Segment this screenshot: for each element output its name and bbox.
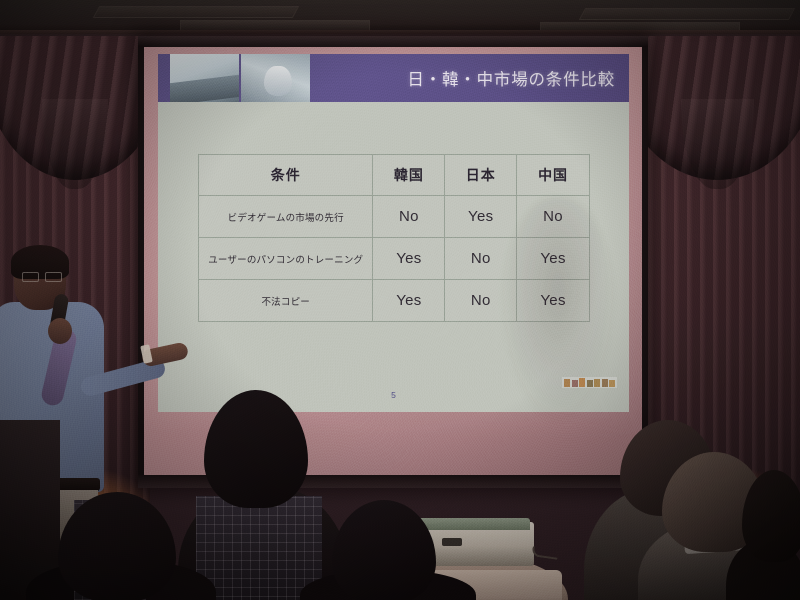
computer-mouse-photo bbox=[241, 54, 310, 102]
cell-japan: No bbox=[445, 280, 517, 322]
comparison-table: 条件 韓国 日本 中国 ビデオゲームの市場の先行 No Yes No ユ bbox=[198, 154, 590, 322]
curtain-swag bbox=[635, 36, 800, 180]
row-label: ユーザーのパソコンのトレーニング bbox=[199, 238, 373, 280]
curtain-swag bbox=[0, 36, 150, 180]
table-row: ユーザーのパソコンのトレーニング Yes No Yes bbox=[199, 238, 590, 280]
column-header-condition: 条件 bbox=[199, 155, 373, 196]
cell-china: Yes bbox=[517, 238, 590, 280]
cell-japan: Yes bbox=[445, 196, 517, 238]
slide-decorative-photos bbox=[170, 54, 310, 102]
column-header-japan: 日本 bbox=[445, 155, 517, 196]
cell-japan: No bbox=[445, 238, 517, 280]
projected-slide: 日・韓・中市場の条件比較 条件 韓国 日本 中国 ビデオゲームの市場の先行 No bbox=[158, 54, 629, 412]
laptop-keyboard-photo bbox=[170, 54, 239, 102]
slide-title-banner: 日・韓・中市場の条件比較 bbox=[158, 54, 629, 102]
projector-vent-icon bbox=[442, 538, 462, 546]
column-header-china: 中国 bbox=[517, 155, 590, 196]
table-header-row: 条件 韓国 日本 中国 bbox=[199, 155, 590, 196]
table-row: ビデオゲームの市場の先行 No Yes No bbox=[199, 196, 590, 238]
table-row: 不法コピー Yes No Yes bbox=[199, 280, 590, 322]
glasses-icon bbox=[22, 272, 62, 280]
row-label: ビデオゲームの市場の先行 bbox=[199, 196, 373, 238]
projector-top-panel bbox=[418, 518, 530, 530]
presenter-hand bbox=[48, 318, 72, 344]
ceiling bbox=[0, 0, 800, 34]
slide-page-number: 5 bbox=[391, 390, 396, 400]
row-label: 不法コピー bbox=[199, 280, 373, 322]
ceiling-vent-icon bbox=[93, 6, 299, 18]
checked-shirt bbox=[196, 496, 322, 600]
cell-korea: No bbox=[373, 196, 445, 238]
column-header-korea: 韓国 bbox=[373, 155, 445, 196]
cell-korea: Yes bbox=[373, 280, 445, 322]
slide-body: 条件 韓国 日本 中国 ビデオゲームの市場の先行 No Yes No ユ bbox=[158, 102, 629, 412]
ceiling-vent-icon bbox=[579, 8, 795, 20]
cell-china: No bbox=[517, 196, 590, 238]
slide-logo-icon bbox=[562, 377, 617, 388]
screen-top-bar bbox=[138, 36, 648, 47]
presentation-room-photo: 日・韓・中市場の条件比較 条件 韓国 日本 中国 ビデオゲームの市場の先行 No bbox=[0, 0, 800, 600]
cell-china: Yes bbox=[517, 280, 590, 322]
slide-title: 日・韓・中市場の条件比較 bbox=[407, 54, 615, 102]
cell-korea: Yes bbox=[373, 238, 445, 280]
